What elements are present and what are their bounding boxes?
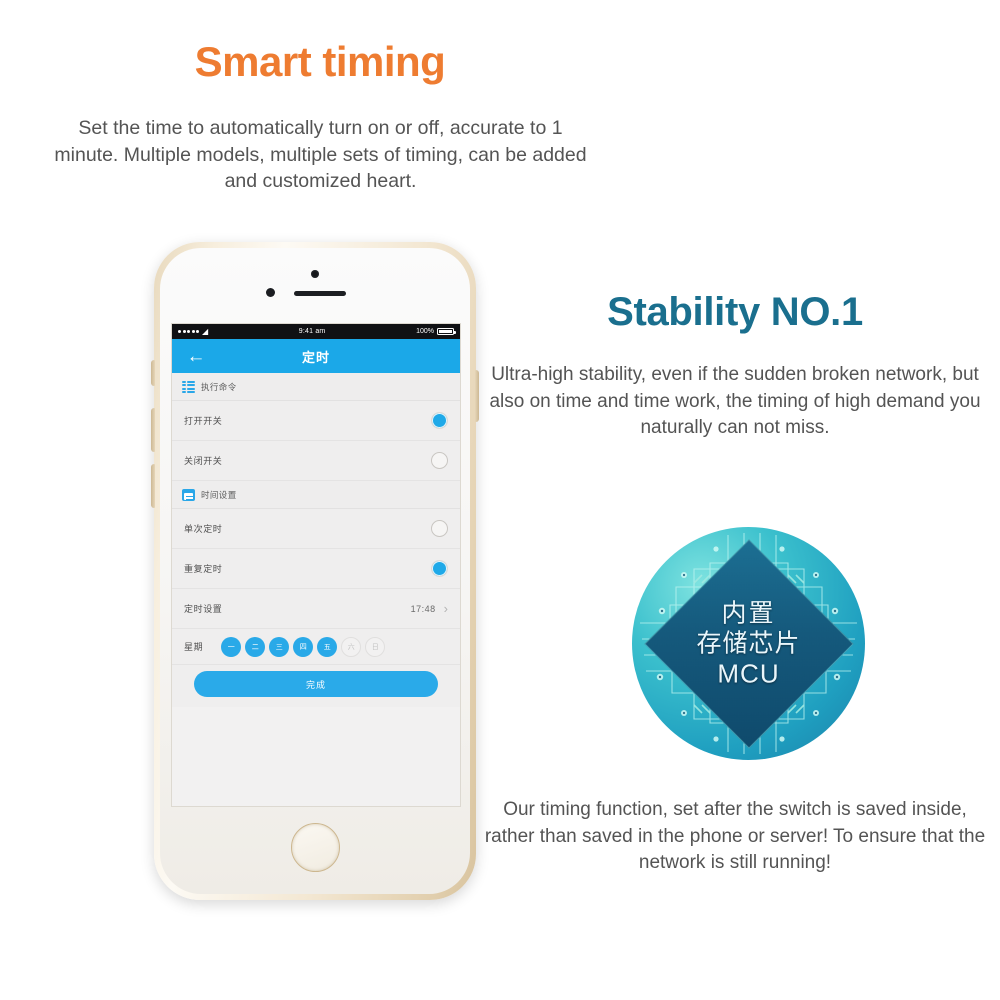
radio-button-repeat-timer[interactable]	[431, 560, 448, 577]
option-row-repeat-timer[interactable]: 重复定时	[172, 549, 460, 589]
status-bar-right: 100%	[416, 328, 454, 335]
section-label: 执行命令	[201, 381, 237, 393]
phone-front-panel: ◢ 9:41 am 100% ← 定时 执行命令	[160, 248, 470, 894]
radio-button-turn-off[interactable]	[431, 452, 448, 469]
section-label: 时间设置	[201, 489, 237, 501]
phone-screen: ◢ 9:41 am 100% ← 定时 执行命令	[171, 323, 461, 807]
front-camera-icon	[311, 270, 319, 278]
weekday-toggle-group: 一 二 三 四 五 六 日	[221, 637, 385, 657]
stability-heading: Stability NO.1	[470, 290, 1000, 335]
option-row-turn-off[interactable]: 关闭开关	[172, 441, 460, 481]
volume-down-button[interactable]	[151, 464, 155, 508]
weekday-label: 星期	[184, 640, 203, 653]
stability-body: Ultra-high stability, even if the sudden…	[480, 362, 990, 442]
smart-timing-heading: Smart timing	[0, 38, 640, 86]
power-button[interactable]	[475, 370, 479, 422]
mcu-line-1: 内置	[664, 599, 834, 628]
option-label: 打开开关	[184, 414, 431, 427]
mcu-badge: 内置 存储芯片 MCU	[632, 527, 865, 760]
radio-button-turn-on[interactable]	[431, 412, 448, 429]
app-nav-bar: ← 定时	[172, 339, 460, 373]
status-bar-clock: 9:41 am	[208, 328, 416, 335]
weekday-toggle-sat[interactable]: 六	[341, 637, 361, 657]
weekday-toggle-wed[interactable]: 三	[269, 637, 289, 657]
weekday-toggle-fri[interactable]: 五	[317, 637, 337, 657]
earpiece-speaker	[294, 291, 346, 296]
page-title: 定时	[172, 339, 460, 373]
signal-strength-icon	[178, 330, 199, 333]
settings-list: 执行命令 打开开关 关闭开关 时间设置 单次定时	[172, 373, 460, 807]
proximity-sensor-icon	[266, 288, 275, 297]
option-label: 重复定时	[184, 562, 431, 575]
calendar-icon	[182, 489, 195, 501]
weekday-toggle-thu[interactable]: 四	[293, 637, 313, 657]
home-button[interactable]	[291, 823, 340, 872]
weekday-row: 星期 一 二 三 四 五 六 日	[172, 629, 460, 665]
done-button-container: 完成	[172, 665, 460, 707]
done-button[interactable]: 完成	[194, 671, 438, 697]
timer-setting-value: 17:48	[411, 604, 436, 614]
timer-setting-label: 定时设置	[184, 602, 411, 615]
option-label: 关闭开关	[184, 454, 431, 467]
timer-setting-row[interactable]: 定时设置 17:48 ›	[172, 589, 460, 629]
volume-up-button[interactable]	[151, 408, 155, 452]
weekday-toggle-mon[interactable]: 一	[221, 637, 241, 657]
option-row-single-timer[interactable]: 单次定时	[172, 509, 460, 549]
status-bar-left: ◢	[178, 328, 208, 336]
pcb-circle-graphic: 内置 存储芯片 MCU	[632, 527, 865, 760]
list-icon	[182, 381, 195, 393]
footer-body: Our timing function, set after the switc…	[480, 797, 990, 877]
weekday-toggle-tue[interactable]: 二	[245, 637, 265, 657]
mcu-line-3: MCU	[664, 658, 834, 688]
mcu-badge-text: 内置 存储芯片 MCU	[664, 599, 834, 688]
battery-percent-label: 100%	[416, 328, 434, 335]
option-row-turn-on[interactable]: 打开开关	[172, 401, 460, 441]
chevron-right-icon: ›	[444, 602, 448, 615]
weekday-toggle-sun[interactable]: 日	[365, 637, 385, 657]
section-header-time-settings: 时间设置	[172, 481, 460, 509]
option-label: 单次定时	[184, 522, 431, 535]
list-empty-space	[172, 707, 460, 807]
section-header-execute-command: 执行命令	[172, 373, 460, 401]
silent-switch[interactable]	[151, 360, 155, 386]
smart-timing-body: Set the time to automatically turn on or…	[48, 115, 593, 195]
status-bar: ◢ 9:41 am 100%	[172, 324, 460, 339]
mcu-line-2: 存储芯片	[664, 628, 834, 658]
phone-mockup: ◢ 9:41 am 100% ← 定时 执行命令	[154, 242, 476, 900]
battery-icon	[437, 328, 454, 335]
radio-button-single-timer[interactable]	[431, 520, 448, 537]
